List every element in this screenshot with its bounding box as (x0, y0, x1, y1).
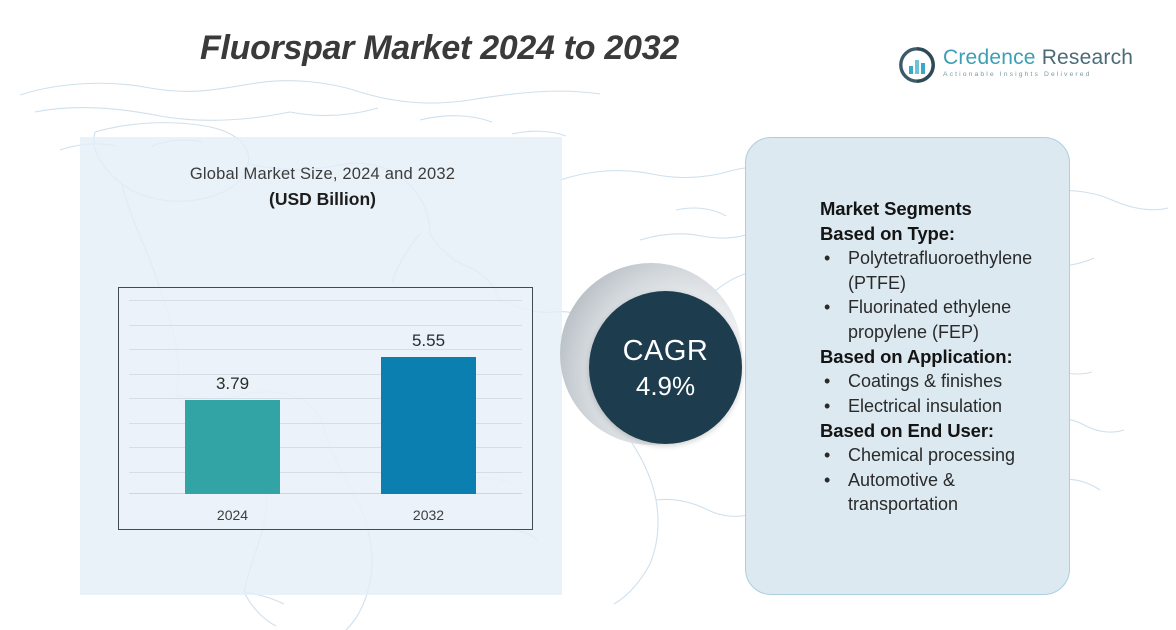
market-segments-content: Market Segments Based on Type:•Polytetra… (820, 196, 1070, 517)
page-title: Fluorspar Market 2024 to 2032 (200, 29, 679, 68)
bullet-icon: • (824, 246, 830, 271)
segment-item-label: Coatings & finishes (848, 371, 1002, 391)
bar-2024 (185, 400, 280, 494)
cagr-circle: CAGR 4.9% (589, 291, 742, 444)
bar-group-2024: 3.792024 (185, 400, 280, 494)
segment-group-heading: Based on Application: (820, 344, 1070, 369)
logo-tagline: Actionable Insights Delivered (943, 71, 1133, 78)
cagr-value: 4.9% (636, 370, 695, 402)
bar-value-label: 3.79 (216, 374, 249, 394)
chart-heading-line2: (USD Billion) (100, 187, 545, 211)
segment-item-label: Automotive & transportation (848, 470, 958, 515)
bar-chart: 3.7920245.552032 (118, 287, 533, 530)
cagr-label: CAGR (623, 334, 709, 368)
chart-plot-area: 3.7920245.552032 (119, 288, 532, 529)
segment-list-item: •Polytetrafluoroethylene (PTFE) (820, 246, 1070, 295)
logo-wordmark: Credence Research Actionable Insights De… (943, 46, 1133, 78)
segment-list-item: •Chemical processing (820, 443, 1070, 468)
bar-group-2032: 5.552032 (381, 357, 476, 494)
bullet-icon: • (824, 295, 830, 320)
segment-group-heading: Based on Type: (820, 221, 1070, 246)
market-segments-title: Market Segments (820, 196, 1070, 221)
segment-item-label: Chemical processing (848, 445, 1015, 465)
chart-heading-line1: Global Market Size, 2024 and 2032 (100, 163, 545, 185)
chart-heading: Global Market Size, 2024 and 2032 (USD B… (100, 163, 545, 211)
logo-name: Credence Research (943, 46, 1133, 70)
segment-list-item: •Coatings & finishes (820, 369, 1070, 394)
segment-list: •Chemical processing•Automotive & transp… (820, 443, 1070, 517)
segment-item-label: Fluorinated ethylene propylene (FEP) (848, 297, 1011, 342)
bar-value-label: 5.55 (412, 331, 445, 351)
x-axis-tick-label: 2024 (217, 507, 248, 523)
segment-item-label: Electrical insulation (848, 396, 1002, 416)
logo-name-part2: Research (1036, 46, 1134, 69)
bullet-icon: • (824, 394, 830, 419)
segment-list-item: •Electrical insulation (820, 394, 1070, 419)
infographic-root: Fluorspar Market 2024 to 2032 Credence R… (0, 0, 1176, 630)
bar-2032 (381, 357, 476, 494)
cagr-badge: CAGR 4.9% (560, 263, 770, 473)
segment-list-item: •Fluorinated ethylene propylene (FEP) (820, 295, 1070, 344)
segment-list: •Coatings & finishes•Electrical insulati… (820, 369, 1070, 418)
bullet-icon: • (824, 468, 830, 493)
segment-list-item: •Automotive & transportation (820, 468, 1070, 517)
bullet-icon: • (824, 443, 830, 468)
segment-list: •Polytetrafluoroethylene (PTFE)•Fluorina… (820, 246, 1070, 344)
segment-group-heading: Based on End User: (820, 418, 1070, 443)
bullet-icon: • (824, 369, 830, 394)
segment-groups: Based on Type:•Polytetrafluoroethylene (… (820, 221, 1070, 517)
logo-name-part1: Credence (943, 46, 1036, 69)
brand-logo: Credence Research Actionable Insights De… (899, 45, 1094, 89)
segment-item-label: Polytetrafluoroethylene (PTFE) (848, 248, 1032, 293)
x-axis-tick-label: 2032 (413, 507, 444, 523)
bar-chart-circle-icon (899, 47, 935, 83)
